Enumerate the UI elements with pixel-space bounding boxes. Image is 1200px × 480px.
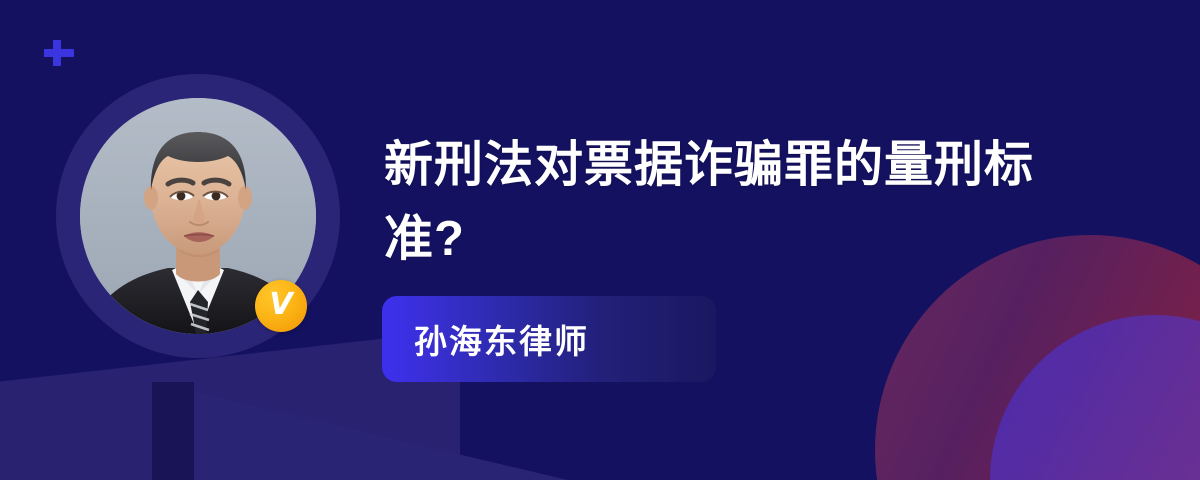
plus-icon [42,36,76,70]
avatar[interactable]: V [56,74,340,358]
decorative-polygon-notch [152,382,194,480]
page-title: 新刑法对票据诈骗罪的量刑标准? [384,128,1044,276]
lawyer-name-button[interactable]: 孙海东律师 [382,296,716,382]
plus-icon-vertical-bar [53,40,61,66]
lawyer-question-banner: V 新刑法对票据诈骗罪的量刑标准? 孙海东律师 [0,0,1200,480]
content-block: 新刑法对票据诈骗罪的量刑标准? [384,128,1084,276]
verified-badge-icon: V [255,280,307,332]
decorative-circle-purple [990,315,1200,480]
verified-badge-label: V [269,290,292,320]
